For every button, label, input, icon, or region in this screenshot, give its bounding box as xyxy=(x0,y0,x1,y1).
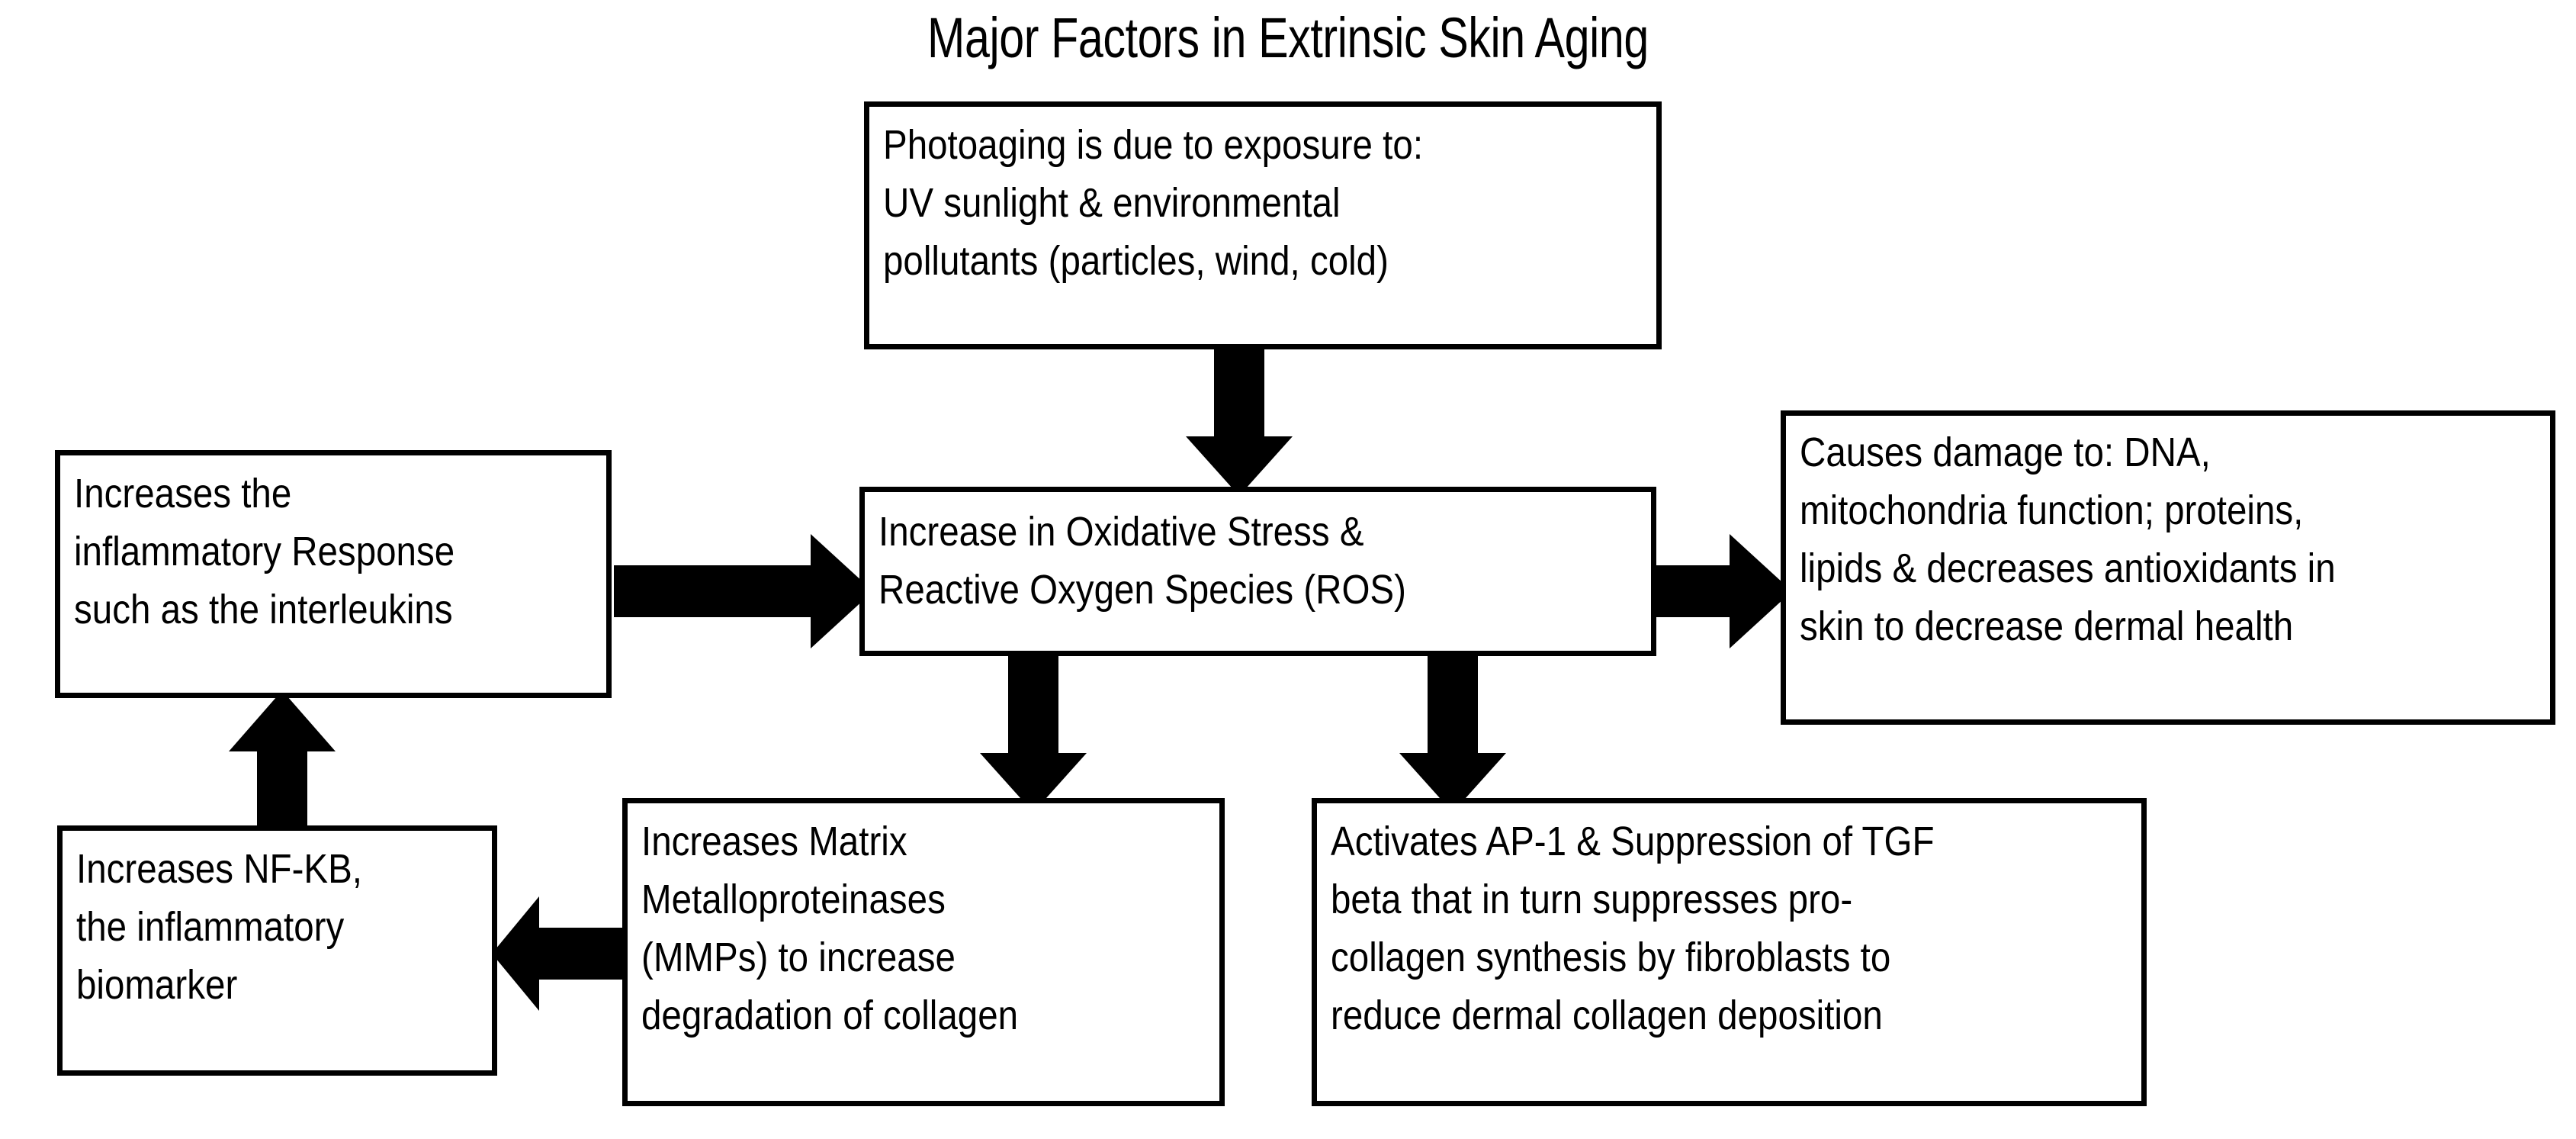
arrow-ros-to-damage xyxy=(1640,534,1792,648)
arrow-ros-to-ap1 xyxy=(1399,648,1506,812)
page-title: Major Factors in Extrinsic Skin Aging xyxy=(258,6,2318,70)
arrow-photoaging-to-ros xyxy=(1186,336,1293,496)
mmps-box[interactable]: Increases Matrix Metalloproteinases (MMP… xyxy=(622,798,1225,1106)
oxidative-stress-box-text: Increase in Oxidative Stress & Reactive … xyxy=(878,503,1650,619)
ap1-tgf-box-text: Activates AP-1 & Suppression of TGF beta… xyxy=(1331,812,2150,1044)
arrow-mmps-to-nfkb xyxy=(492,896,629,1011)
nfkb-box[interactable]: Increases NF-KB, the inflammatory biomar… xyxy=(57,825,497,1076)
photoaging-box-text: Photoaging is due to exposure to: UV sun… xyxy=(883,116,1655,290)
cell-damage-box[interactable]: Causes damage to: DNA, mitochondria func… xyxy=(1781,410,2555,725)
ap1-tgf-box[interactable]: Activates AP-1 & Suppression of TGF beta… xyxy=(1312,798,2147,1106)
arrow-inflammatory-to-ros xyxy=(614,534,873,648)
inflammatory-response-box-text: Increases the inflammatory Response such… xyxy=(74,465,625,639)
arrow-nfkb-to-inflammatory xyxy=(229,690,336,839)
oxidative-stress-box[interactable]: Increase in Oxidative Stress & Reactive … xyxy=(859,487,1656,656)
cell-damage-box-text: Causes damage to: DNA, mitochondria func… xyxy=(1800,423,2558,655)
inflammatory-response-box[interactable]: Increases the inflammatory Response such… xyxy=(55,450,612,698)
nfkb-box-text: Increases NF-KB, the inflammatory biomar… xyxy=(76,840,506,1014)
photoaging-box[interactable]: Photoaging is due to exposure to: UV sun… xyxy=(864,101,1662,349)
mmps-box-text: Increases Matrix Metalloproteinases (MMP… xyxy=(641,812,1232,1044)
arrow-ros-to-mmps xyxy=(980,648,1087,812)
diagram-canvas: Major Factors in Extrinsic Skin Aging xyxy=(0,0,2576,1139)
